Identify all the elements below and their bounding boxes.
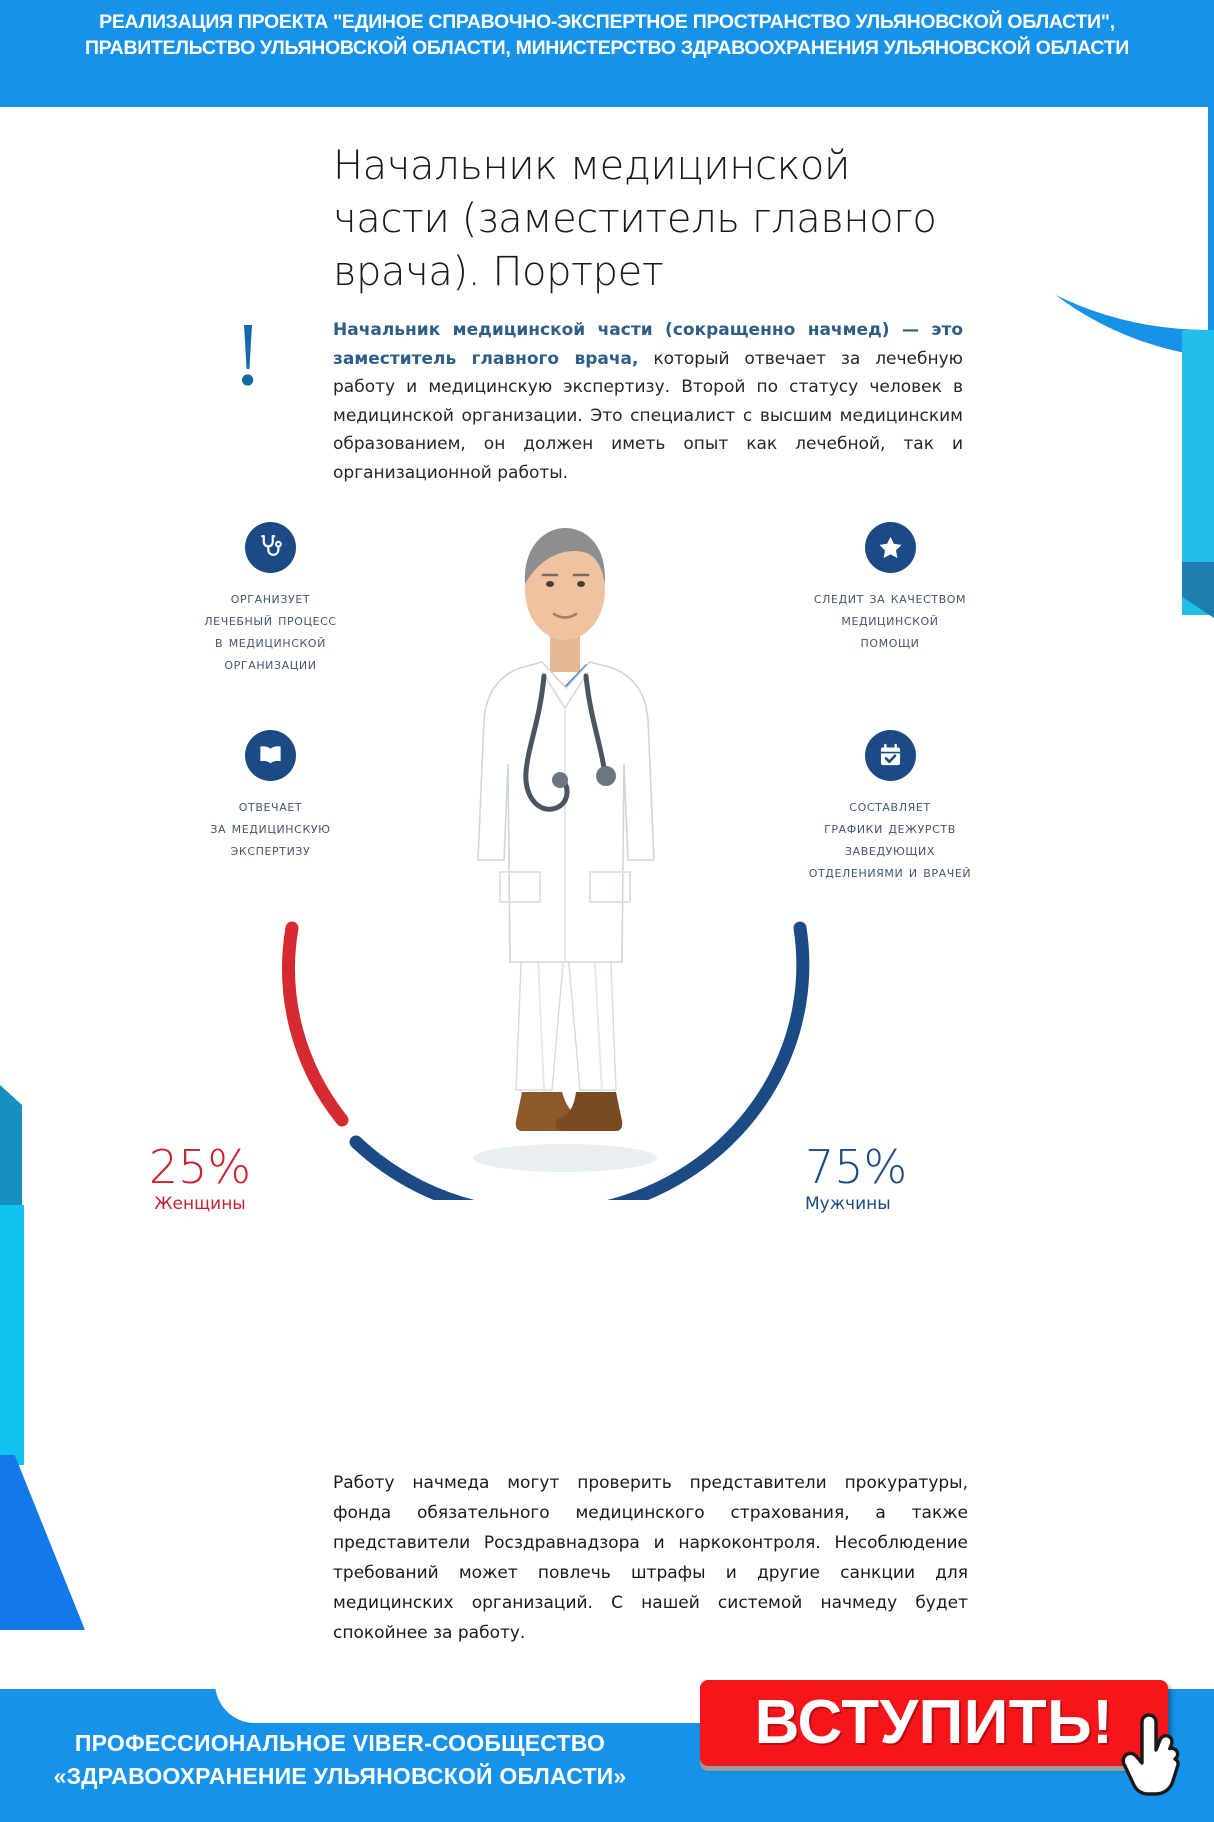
stethoscope-icon — [245, 522, 296, 573]
calendar-check-icon — [865, 730, 916, 781]
open-book-icon — [245, 730, 296, 781]
doctor-photo — [440, 480, 690, 1180]
feature-item-duty-schedules: Составляет графики дежурств заведующих о… — [745, 730, 1035, 883]
footer-line-2: «ЗДРАВООХРАНЕНИЕ УЛЬЯНОВСКОЙ ОБЛАСТИ» — [20, 1760, 660, 1793]
exclamation-icon — [228, 325, 268, 405]
decorative-ribbon-left-dark — [0, 1085, 22, 1210]
stat-women-value: 25% — [140, 1142, 260, 1192]
infographic-page: РЕАЛИЗАЦИЯ ПРОЕКТА "ЕДИНОЕ СПРАВОЧНО-ЭКС… — [0, 0, 1214, 1822]
feature-item-medical-expertise: Отвечает за медицинскую экспертизу — [163, 730, 378, 861]
stat-men-caption: Мужчины — [805, 1192, 935, 1216]
bottom-paragraph: Работу начмеда могут проверить представи… — [333, 1468, 968, 1648]
feature-label: Следит за качеством медицинской помощи — [745, 587, 1035, 653]
feature-item-organizes-treatment: Организует лечебный процесс в медицинско… — [163, 522, 378, 675]
star-icon — [865, 522, 916, 573]
header-title: РЕАЛИЗАЦИЯ ПРОЕКТА "ЕДИНОЕ СПРАВОЧНО-ЭКС… — [0, 9, 1214, 61]
stat-women-caption: Женщины — [140, 1192, 260, 1216]
decorative-ribbon-left-cyan — [0, 1205, 24, 1465]
decorative-ribbon-left-blue — [0, 1455, 85, 1630]
hand-cursor-icon — [1118, 1712, 1186, 1804]
feature-label: Организует лечебный процесс в медицинско… — [163, 587, 378, 675]
stat-men: 75% Мужчины — [805, 1142, 935, 1216]
feature-label: Составляет графики дежурств заведующих о… — [745, 795, 1035, 883]
join-button[interactable]: ВСТУПИТЬ! — [700, 1680, 1168, 1766]
feature-item-quality-control: Следит за качеством медицинской помощи — [745, 522, 1035, 653]
feature-label: Отвечает за медицинскую экспертизу — [163, 795, 378, 861]
header-band: РЕАЛИЗАЦИЯ ПРОЕКТА "ЕДИНОЕ СПРАВОЧНО-ЭКС… — [0, 0, 1214, 107]
join-button-label: ВСТУПИТЬ! — [755, 1692, 1114, 1754]
page-title: Начальник медицинской части (заместитель… — [333, 140, 953, 299]
intro-paragraph: Начальник медицинской части (сокращенно … — [333, 316, 963, 487]
footer-line-1: ПРОФЕССИОНАЛЬНОЕ VIBER-СООБЩЕСТВО — [20, 1727, 660, 1760]
decorative-swoosh-mask — [908, 70, 1208, 330]
footer-community-text: ПРОФЕССИОНАЛЬНОЕ VIBER-СООБЩЕСТВО «ЗДРАВ… — [20, 1727, 660, 1793]
stat-men-value: 75% — [805, 1142, 935, 1192]
stat-women: 25% Женщины — [140, 1142, 260, 1216]
